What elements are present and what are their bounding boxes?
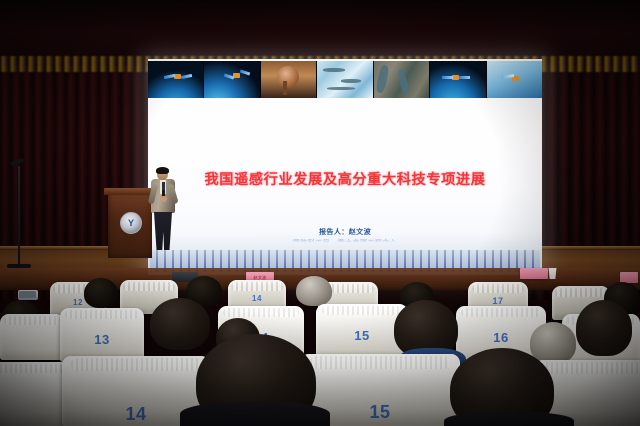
- podium-emblem-letter: Y: [128, 219, 134, 228]
- table-row: [0, 362, 70, 426]
- speaker-presenter: [150, 168, 176, 250]
- seat-number: 17: [468, 296, 528, 306]
- banner-radar-dish-image: [261, 61, 316, 98]
- banner-satellite-blue-earth-image: [204, 61, 259, 98]
- table-row: [0, 314, 64, 360]
- name-placard-right: [520, 268, 548, 279]
- podium-top-surface: [104, 188, 156, 195]
- banner-satellite-orbit-image: [430, 61, 485, 98]
- speaker-hair: [156, 167, 169, 174]
- audience-head: [150, 298, 210, 350]
- audience-shoulders: [180, 402, 330, 426]
- audience-head: [296, 276, 332, 306]
- banner-satellite-solar-panel-image: [487, 61, 542, 98]
- seat-number: 13: [60, 332, 144, 347]
- speaker-trousers: [154, 212, 172, 250]
- table-row: 13: [60, 308, 144, 362]
- audience-head: [576, 300, 632, 356]
- audience-shoulders: [444, 412, 574, 426]
- speaker-hands: [160, 196, 167, 202]
- podium-emblem-icon: Y: [120, 212, 142, 234]
- mobile-phone-recording: [18, 290, 38, 300]
- banner-satellite-city-river-image: [374, 61, 429, 98]
- audience-head: [530, 322, 576, 364]
- seat-number: 14: [228, 294, 286, 303]
- banner-weather-map-image: [317, 61, 372, 98]
- conference-hall-photo: 我国遥感行业发展及高分重大科技专项进展 报告人：赵文波 国防科工局 重大专项工程…: [0, 0, 640, 426]
- slide-banner-strip: [148, 61, 542, 98]
- microphone-stand-pole: [18, 166, 20, 266]
- slide-title: 我国遥感行业发展及高分重大科技专项进展: [148, 169, 542, 189]
- banner-satellite-over-earth-image: [148, 61, 203, 98]
- audience-head: [84, 278, 118, 308]
